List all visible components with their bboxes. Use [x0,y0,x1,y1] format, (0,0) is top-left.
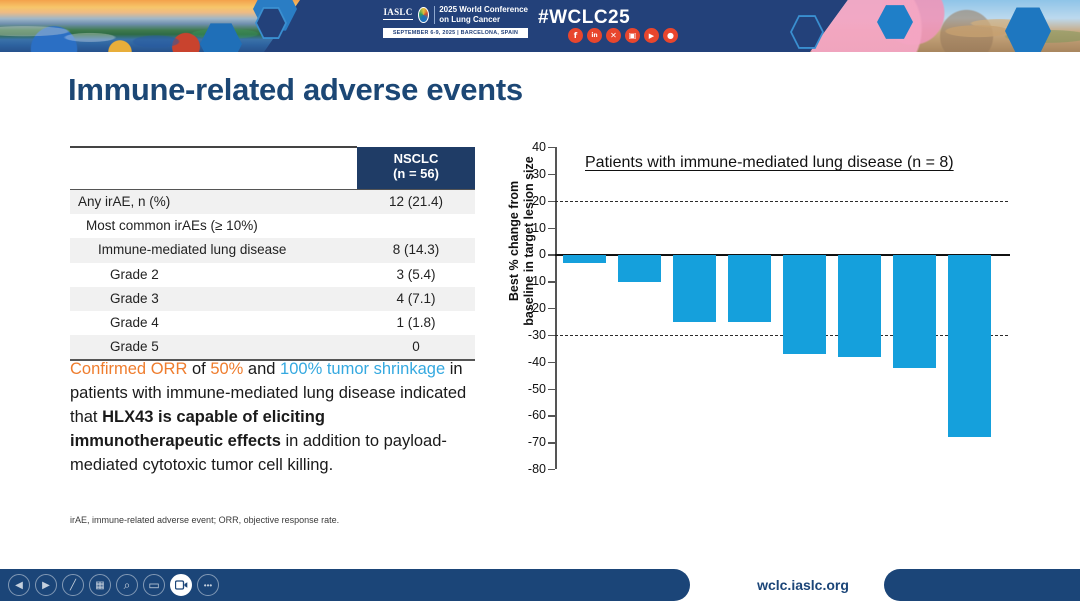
y-tick [548,254,555,255]
row-value: 3 (5.4) [357,263,475,287]
iaslc-acronym: IASLC [383,7,412,17]
callout-seg4: and [243,360,280,378]
y-tick-label: -40 [528,355,546,369]
conference-hashtag: #WCLC25 [538,7,630,29]
hexagon-outline-decor-right [790,14,824,50]
table-row: Most common irAEs (≥ 10%) [70,214,475,238]
callout-orr-value: 50% [210,360,243,378]
conference-name-line2: on Lung Cancer [439,15,528,25]
table-header-nsclc-line2: (n = 56) [365,167,467,182]
row-label: Grade 4 [70,311,357,335]
slide-root: IASLC 2025 World Conference on Lung Canc… [0,0,1080,608]
row-value: 0 [357,335,475,360]
y-tick [548,415,555,416]
footer-bar-right [884,569,1080,601]
hexagon-outline-decor-left [255,6,287,40]
y-tick-label: 30 [532,167,546,181]
lockup-divider [434,6,435,24]
y-tick [548,281,555,282]
table-row: Grade 5 0 [70,335,475,360]
callout-shrinkage: 100% tumor shrinkage [280,360,445,378]
y-tick [548,442,555,443]
all-slides-button[interactable]: ▦ [89,574,111,596]
abbreviation-footnote: irAE, immune-related adverse event; ORR,… [70,515,339,525]
bar-patient-1 [563,255,606,263]
key-finding-text: Confirmed ORR of 50% and 100% tumor shri… [70,358,482,478]
table-header-blank [70,147,357,189]
table-row: Grade 3 4 (7.1) [70,287,475,311]
wechat-icon[interactable]: ● [663,28,678,43]
iaslc-lockup: IASLC 2025 World Conference on Lung Canc… [383,5,528,38]
y-tick-label: -10 [528,274,546,288]
subtitles-button[interactable]: ▭ [143,574,165,596]
chart-title: Patients with immune-mediated lung disea… [585,154,954,172]
table-row: Immune-mediated lung disease 8 (14.3) [70,238,475,262]
table-header-nsclc: NSCLC (n = 56) [357,147,475,189]
more-options-button[interactable]: ••• [197,574,219,596]
y-tick [548,201,555,202]
irae-table: NSCLC (n = 56) Any irAE, n (%) 12 (21.4)… [70,146,475,361]
conference-banner: IASLC 2025 World Conference on Lung Canc… [0,0,1080,52]
y-tick-label: -80 [528,462,546,476]
conference-name-line1: 2025 World Conference [439,5,528,15]
presenter-footer: wclc.iaslc.org ◀ ▶ ╱ ▦ ⌕ ▭ ••• [0,562,1080,608]
y-tick [548,389,555,390]
bar-patient-6 [838,255,881,357]
row-value [357,214,475,238]
row-value: 12 (21.4) [357,189,475,214]
iaslc-rule [383,19,413,20]
conference-url[interactable]: wclc.iaslc.org [723,577,883,593]
next-slide-button[interactable]: ▶ [35,574,57,596]
social-links: f in ✕ ▣ ▶ ● [568,28,678,43]
y-tick-label: -50 [528,382,546,396]
table-row: Any irAE, n (%) 12 (21.4) [70,189,475,214]
iaslc-wordmark: IASLC [383,8,413,21]
bar-patient-3 [673,255,716,322]
chart-plot-area: 40 30 20 10 0 -10 -20 -30 -40 -50 -60 -7… [555,147,1010,469]
camera-button[interactable] [170,574,192,596]
table-header-row: NSCLC (n = 56) [70,147,475,189]
instagram-icon[interactable]: ▣ [625,28,640,43]
presenter-toolbar: ◀ ▶ ╱ ▦ ⌕ ▭ ••• [8,574,219,596]
table-header-nsclc-line1: NSCLC [365,152,467,167]
bar-patient-4 [728,255,771,322]
y-tick-label: -60 [528,408,546,422]
irae-table-wrapper: NSCLC (n = 56) Any irAE, n (%) 12 (21.4)… [70,146,475,361]
callout-orr-label: Confirmed ORR [70,360,187,378]
y-tick-label: -20 [528,301,546,315]
waterfall-chart: Best % change from baseline in target le… [505,140,1015,485]
row-label: Grade 2 [70,263,357,287]
linkedin-icon[interactable]: in [587,28,602,43]
table-row: Grade 2 3 (5.4) [70,263,475,287]
table-head: NSCLC (n = 56) [70,147,475,189]
row-label: Grade 5 [70,335,357,360]
row-value: 8 (14.3) [357,238,475,262]
row-value: 4 (7.1) [357,287,475,311]
bar-patient-5 [783,255,826,354]
reference-line-plus20 [555,201,1008,202]
bar-patient-8 [948,255,991,437]
row-label: Immune-mediated lung disease [70,238,357,262]
row-value: 1 (1.8) [357,311,475,335]
y-tick-label: 0 [539,247,546,261]
previous-slide-button[interactable]: ◀ [8,574,30,596]
youtube-icon[interactable]: ▶ [644,28,659,43]
zoom-button[interactable]: ⌕ [116,574,138,596]
reference-line-minus30 [555,335,1008,336]
bar-patient-2 [618,255,661,282]
facebook-icon[interactable]: f [568,28,583,43]
y-tick-label: 20 [532,194,546,208]
x-twitter-icon[interactable]: ✕ [606,28,621,43]
y-tick-label: -30 [528,328,546,342]
row-label: Grade 3 [70,287,357,311]
y-tick [548,469,555,470]
conference-name: 2025 World Conference on Lung Cancer [439,5,528,25]
y-tick [548,228,555,229]
y-tick [548,335,555,336]
pen-annotation-button[interactable]: ╱ [62,574,84,596]
y-tick [548,147,555,148]
iaslc-globe-icon [418,7,429,23]
y-tick [548,362,555,363]
callout-seg2: of [187,360,210,378]
row-label: Any irAE, n (%) [70,189,357,214]
page-title: Immune-related adverse events [68,72,523,108]
y-tick [548,308,555,309]
y-tick-label: 40 [532,140,546,154]
row-label: Most common irAEs (≥ 10%) [70,214,357,238]
bar-patient-7 [893,255,936,368]
table-row: Grade 4 1 (1.8) [70,311,475,335]
y-tick [548,174,555,175]
y-tick-label: -70 [528,435,546,449]
y-tick-label: 10 [532,221,546,235]
table-body: Any irAE, n (%) 12 (21.4) Most common ir… [70,189,475,360]
chart-y-axis-line [555,147,557,469]
conference-date-location: SEPTEMBER 6-9, 2025 | BARCELONA, SPAIN [383,28,528,38]
